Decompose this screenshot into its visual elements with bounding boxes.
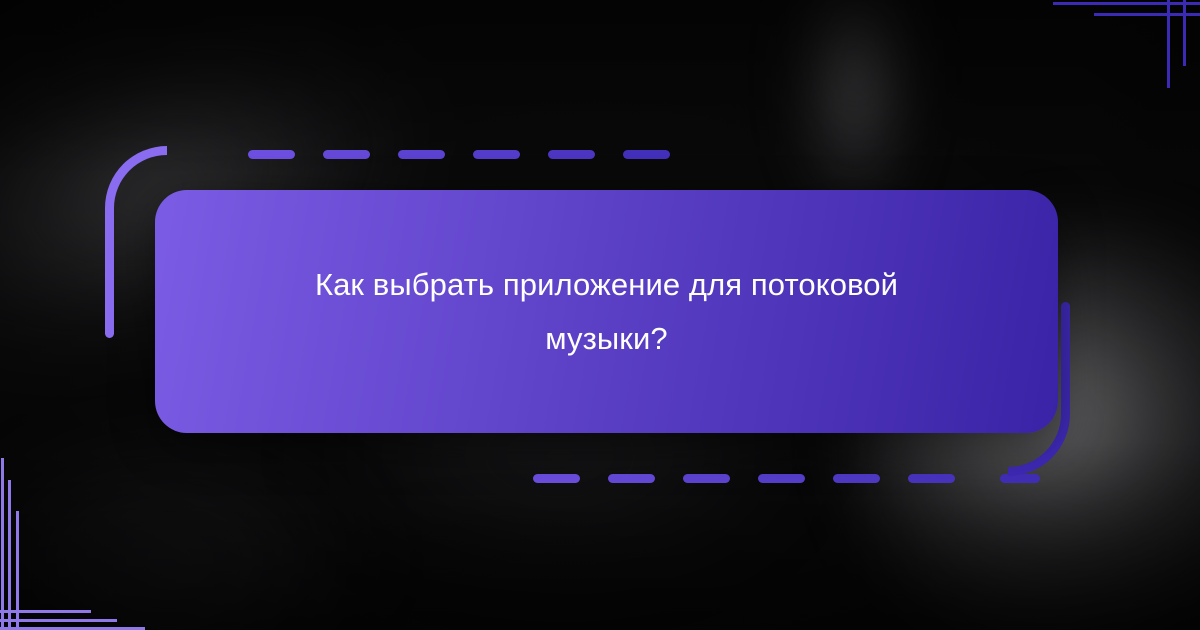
dash-segment (473, 150, 520, 159)
frame-line-h (0, 619, 117, 622)
dash-segment (683, 474, 730, 483)
dash-segment (758, 474, 805, 483)
dash-segment (248, 150, 295, 159)
dash-segment (323, 150, 370, 159)
dash-segment (533, 474, 580, 483)
dash-segment (398, 150, 445, 159)
arc-cap (105, 329, 114, 338)
frame-line-v (1167, 0, 1170, 88)
dash-segment (833, 474, 880, 483)
frame-line-h (0, 610, 91, 613)
frame-line-v (1, 458, 4, 630)
question-card: Как выбрать приложение для потоковой муз… (155, 190, 1058, 433)
dash-segment (1000, 474, 1040, 483)
frame-line-v (1183, 0, 1186, 66)
dash-segment (623, 150, 670, 159)
question-title: Как выбрать приложение для потоковой муз… (257, 258, 957, 365)
share-card-canvas: Как выбрать приложение для потоковой муз… (0, 0, 1200, 630)
frame-line-h (1053, 2, 1200, 5)
arc-cap (1061, 302, 1070, 311)
dash-segment (548, 150, 595, 159)
dash-segment (908, 474, 955, 483)
dash-segment (608, 474, 655, 483)
frame-line-v (8, 480, 11, 630)
